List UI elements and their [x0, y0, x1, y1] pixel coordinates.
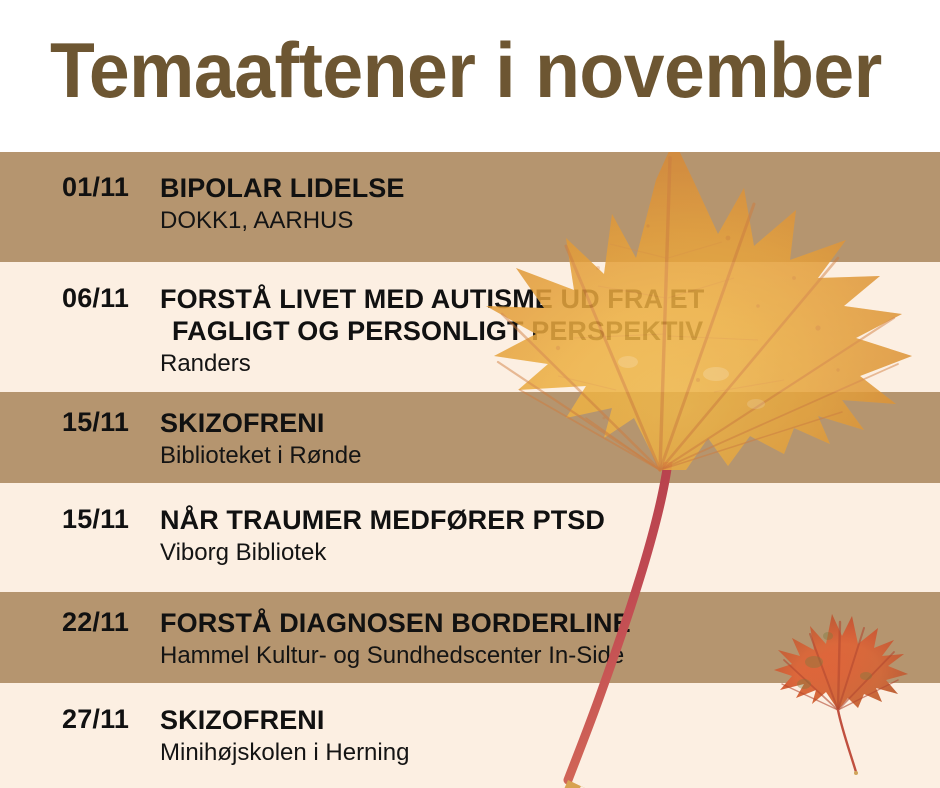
event-title: FORSTÅ DIAGNOSEN BORDERLINE — [160, 607, 926, 639]
event-title: SKIZOFRENI — [160, 407, 926, 439]
event-venue: Randers — [160, 349, 926, 379]
event-date: 22/11 — [0, 607, 160, 637]
schedule-row[interactable]: 01/11 BIPOLAR LIDELSE DOKK1, AARHUS — [0, 152, 940, 262]
event-title-line: SKIZOFRENI — [160, 407, 926, 439]
event-venue: Biblioteket i Rønde — [160, 441, 926, 471]
poster-header: Temaaftener i november — [0, 0, 940, 152]
event-title: SKIZOFRENI — [160, 704, 926, 736]
event-venue: DOKK1, AARHUS — [160, 206, 926, 236]
event-date: 15/11 — [0, 407, 160, 437]
event-venue: Minihøjskolen i Herning — [160, 738, 926, 768]
schedule-row[interactable]: 15/11 SKIZOFRENI Biblioteket i Rønde — [0, 392, 940, 483]
event-body: NÅR TRAUMER MEDFØRER PTSD Viborg Bibliot… — [160, 504, 940, 568]
event-title-line: FORSTÅ DIAGNOSEN BORDERLINE — [160, 607, 926, 639]
event-venue: Hammel Kultur- og Sundhedscenter In-Side — [160, 641, 926, 671]
event-title-line: SKIZOFRENI — [160, 704, 926, 736]
schedule-row[interactable]: 27/11 SKIZOFRENI Minihøjskolen i Herning — [0, 683, 940, 788]
poster-canvas: Temaaftener i november 01/11 BIPOLAR LID… — [0, 0, 940, 788]
event-title: NÅR TRAUMER MEDFØRER PTSD — [160, 504, 926, 536]
schedule-list: 01/11 BIPOLAR LIDELSE DOKK1, AARHUS 06/1… — [0, 152, 940, 788]
event-venue: Viborg Bibliotek — [160, 538, 926, 568]
event-date: 15/11 — [0, 504, 160, 534]
event-body: SKIZOFRENI Minihøjskolen i Herning — [160, 704, 940, 768]
schedule-row[interactable]: 22/11 FORSTÅ DIAGNOSEN BORDERLINE Hammel… — [0, 592, 940, 683]
event-date: 27/11 — [0, 704, 160, 734]
event-title: FORSTÅ LIVET MED AUTISME UD FRA ET FAGLI… — [160, 283, 926, 347]
event-title: BIPOLAR LIDELSE — [160, 172, 926, 204]
event-title-line: BIPOLAR LIDELSE — [160, 172, 926, 204]
page-title: Temaaftener i november — [50, 24, 882, 116]
event-title-line: FAGLIGT OG PERSONLIGT PERSPEKTIV — [160, 315, 926, 347]
schedule-row[interactable]: 15/11 NÅR TRAUMER MEDFØRER PTSD Viborg B… — [0, 483, 940, 592]
schedule-row[interactable]: 06/11 FORSTÅ LIVET MED AUTISME UD FRA ET… — [0, 262, 940, 392]
event-date: 01/11 — [0, 172, 160, 202]
event-body: FORSTÅ DIAGNOSEN BORDERLINE Hammel Kultu… — [160, 607, 940, 671]
event-title-line: FORSTÅ LIVET MED AUTISME UD FRA ET — [160, 283, 926, 315]
event-body: BIPOLAR LIDELSE DOKK1, AARHUS — [160, 172, 940, 236]
event-date: 06/11 — [0, 283, 160, 313]
event-body: FORSTÅ LIVET MED AUTISME UD FRA ET FAGLI… — [160, 283, 940, 379]
event-body: SKIZOFRENI Biblioteket i Rønde — [160, 407, 940, 471]
event-title-line: NÅR TRAUMER MEDFØRER PTSD — [160, 504, 926, 536]
